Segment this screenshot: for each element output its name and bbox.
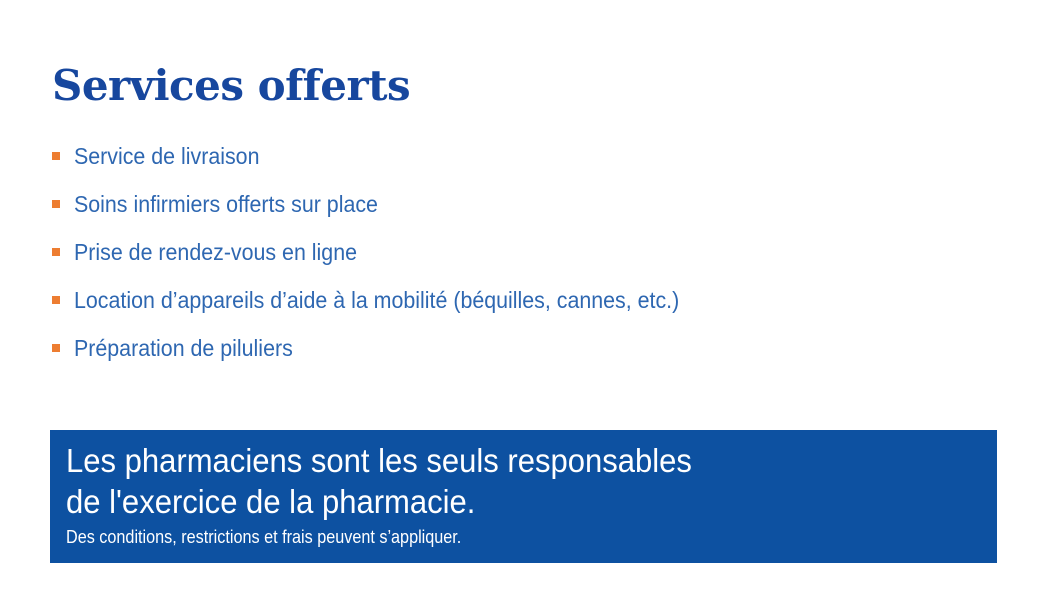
list-item-label: Service de livraison — [74, 142, 946, 170]
list-item: Location d’appareils d’aide à la mobilit… — [52, 286, 1012, 334]
banner-headline-line-2: de l'exercice de la pharmacie. — [66, 481, 926, 522]
services-list: Service de livraison Soins infirmiers of… — [52, 142, 1012, 382]
square-bullet-icon — [52, 200, 60, 208]
list-item-label: Location d’appareils d’aide à la mobilit… — [74, 286, 946, 314]
page-title: Services offerts — [52, 62, 410, 110]
list-item-label: Préparation de piluliers — [74, 334, 946, 362]
slide-canvas: Services offerts Service de livraison So… — [0, 0, 1050, 600]
square-bullet-icon — [52, 344, 60, 352]
list-item: Service de livraison — [52, 142, 1012, 190]
banner-fine-print: Des conditions, restrictions et frais pe… — [66, 526, 890, 549]
list-item: Prise de rendez-vous en ligne — [52, 238, 1012, 286]
list-item: Préparation de piluliers — [52, 334, 1012, 382]
square-bullet-icon — [52, 152, 60, 160]
square-bullet-icon — [52, 296, 60, 304]
list-item: Soins infirmiers offerts sur place — [52, 190, 1012, 238]
square-bullet-icon — [52, 248, 60, 256]
banner-headline: Les pharmaciens sont les seuls responsab… — [66, 440, 926, 522]
banner-headline-line-1: Les pharmaciens sont les seuls responsab… — [66, 440, 926, 481]
list-item-label: Soins infirmiers offerts sur place — [74, 190, 946, 218]
disclaimer-banner: Les pharmaciens sont les seuls responsab… — [50, 430, 997, 563]
list-item-label: Prise de rendez-vous en ligne — [74, 238, 946, 266]
